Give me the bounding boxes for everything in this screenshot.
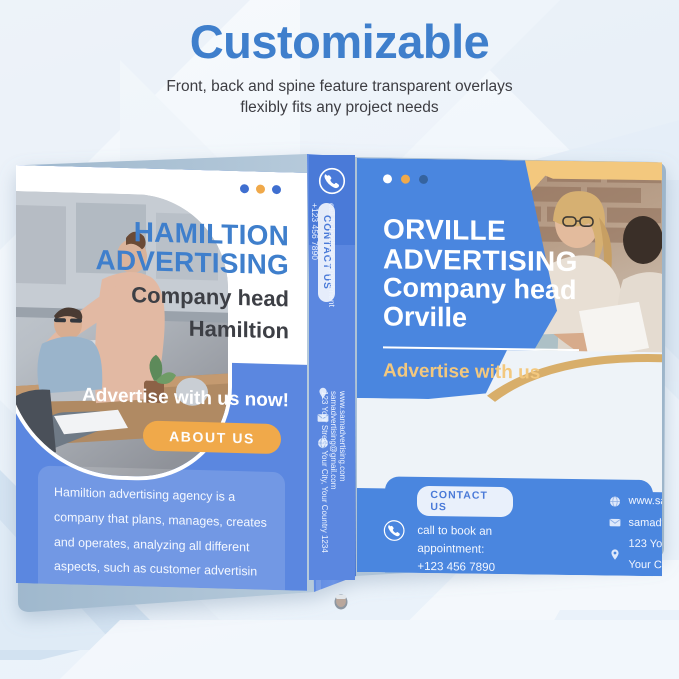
spine-appointment-text: call to book an appointment xyxy=(327,203,337,307)
phone-circle-icon xyxy=(318,167,346,200)
front-cover-divider xyxy=(383,346,579,351)
back-cover-title-line-2: ADVERTISING xyxy=(31,244,289,280)
dot-1 xyxy=(240,184,249,193)
back-cover-about-button[interactable]: ABOUT US xyxy=(143,420,281,454)
front-cover-footer: CONTACT US call to book an appointment: … xyxy=(357,488,662,576)
front-cover-footer-contact: CONTACT US call to book an appointment: … xyxy=(357,485,513,576)
back-cover-dots xyxy=(240,184,281,194)
info-row: 123 Your Street, Your City, Your Country… xyxy=(609,533,662,576)
footer-email[interactable]: samadvertising@gmail.com xyxy=(629,512,662,535)
back-cover-body-line-1: Hamiltion advertising agency is a compan… xyxy=(54,480,269,535)
location-pin-icon xyxy=(609,549,621,561)
footer-phone-number[interactable]: +123 456 7890 xyxy=(417,558,512,576)
spine-artwork: +123 456 7890 CONTACT US call to book an… xyxy=(309,155,355,580)
back-cover-title-block: HAMILTION ADVERTISING Company head Hamil… xyxy=(31,215,289,343)
info-row: samadvertising@gmail.com xyxy=(609,512,662,536)
footer-address: 123 Your Street, Your City, Your Country… xyxy=(629,534,662,576)
page-subtitle-line-1: Front, back and spine feature transparen… xyxy=(0,77,679,98)
footer-website[interactable]: www.samadvertising.com xyxy=(629,491,662,514)
spine-info-address: 123 Your Street, Your City, Your Country… xyxy=(320,391,329,553)
info-row: www.samadvertising.com xyxy=(609,491,662,515)
back-cover-artwork: HAMILTION ADVERTISING Company head Hamil… xyxy=(16,165,307,591)
spine-info-email[interactable]: samadvertising@gmail.com xyxy=(329,391,338,489)
globe-icon xyxy=(609,495,621,507)
front-cover-dots xyxy=(383,174,428,184)
page-subtitle: Front, back and spine feature transparen… xyxy=(0,77,679,119)
page-subtitle-line-2: flexibly fits any project needs xyxy=(0,98,679,119)
envelope-icon xyxy=(609,517,621,529)
dot-2 xyxy=(401,175,410,184)
binder-rivet xyxy=(335,595,348,610)
footer-contact-text: call to book an appointment: +123 456 78… xyxy=(417,522,512,576)
footer-contact-badge: CONTACT US xyxy=(417,486,512,517)
back-cover-body-text: Hamiltion advertising agency is a compan… xyxy=(38,466,285,591)
dot-3 xyxy=(419,175,428,184)
phone-circle-icon xyxy=(383,513,405,547)
dot-2 xyxy=(256,185,265,194)
front-cover-artwork: ORVILLE ADVERTISING Company head Orville… xyxy=(357,158,662,576)
footer-appointment-text: call to book an appointment: xyxy=(417,522,512,559)
dot-3 xyxy=(272,185,281,194)
back-cover-body-line-2: and operates, analyzing all different as… xyxy=(54,530,269,585)
spine-info-website[interactable]: www.samadvertising.com xyxy=(338,391,347,481)
back-cover-subtitle-line-1: Company head xyxy=(31,281,289,312)
page-title: Customizable xyxy=(0,18,679,65)
header: Customizable Front, back and spine featu… xyxy=(0,18,679,119)
front-cover-subtitle-line-2: Orville xyxy=(383,302,662,335)
front-cover-tagline: Advertise with us xyxy=(383,360,662,386)
front-cover-title-block: ORVILLE ADVERTISING Company head Orville… xyxy=(383,214,662,386)
front-cover-footer-info: www.samadvertising.com samadvertising@gm… xyxy=(609,491,662,577)
dot-1 xyxy=(383,174,392,183)
